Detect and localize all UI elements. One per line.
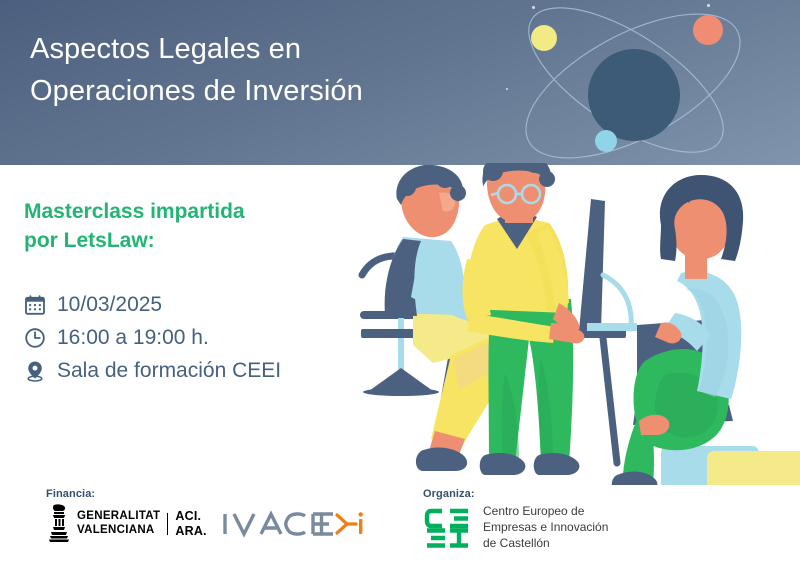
poster-root: Aspectos Legales en Operaciones de Inver… <box>0 0 800 565</box>
page-title: Aspectos Legales en Operaciones de Inver… <box>30 28 460 112</box>
event-detail-location: Sala de formación CEEI <box>22 354 352 387</box>
generalitat-valenciana-text: GENERALITATVALENCIANA <box>77 510 160 537</box>
generalitat-crest-icon <box>46 504 72 544</box>
footer: Financia: GEN <box>0 485 800 565</box>
organiza-label: Organiza: <box>423 488 608 500</box>
dot-coral <box>693 15 723 45</box>
financia-logos: GENERALITATVALENCIANA ACI.ARA. <box>46 504 367 544</box>
block-yellow <box>707 451 800 485</box>
masterclass-heading: Masterclass impartida por LetsLaw: <box>24 198 334 256</box>
planet-circle <box>588 49 680 141</box>
ceei-logo <box>423 507 473 549</box>
star-dot <box>532 6 535 9</box>
team-working-illustration <box>355 163 800 485</box>
event-detail-time: 16:00 a 19:00 h. <box>22 321 352 354</box>
event-detail-date: 10/03/2025 <box>22 288 352 321</box>
star-dot <box>506 88 508 90</box>
location-pin-icon <box>22 358 48 384</box>
organiza-block: Organiza: Centro Europeo de Empresas e I… <box>423 488 608 551</box>
event-date-text: 10/03/2025 <box>57 294 162 315</box>
header-banner: Aspectos Legales en Operaciones de Inver… <box>0 0 800 165</box>
ivace-logo <box>221 507 367 541</box>
person-standing-man <box>463 163 585 475</box>
event-location-text: Sala de formación CEEI <box>57 360 281 381</box>
organiza-logos: Centro Europeo de Empresas e Innovación … <box>423 504 608 551</box>
event-time-text: 16:00 a 19:00 h. <box>57 327 209 348</box>
dot-yellow <box>531 25 557 51</box>
event-details-list: 10/03/2025 16:00 a 19:00 h. Sala de form… <box>22 288 352 387</box>
orbit-graphic <box>440 0 800 165</box>
desktop-monitor <box>579 199 637 331</box>
financia-block: Financia: GEN <box>46 488 367 544</box>
ceei-description: Centro Europeo de Empresas e Innovación … <box>483 504 608 551</box>
clock-icon <box>22 325 48 351</box>
ivace-plus-i-icon <box>333 507 367 541</box>
star-dot <box>707 4 710 7</box>
logo-divider <box>167 513 168 535</box>
financia-label: Financia: <box>46 488 367 500</box>
aci-ara-text: ACI.ARA. <box>175 509 206 539</box>
calendar-icon <box>22 292 48 318</box>
dot-lightblue <box>595 130 617 152</box>
